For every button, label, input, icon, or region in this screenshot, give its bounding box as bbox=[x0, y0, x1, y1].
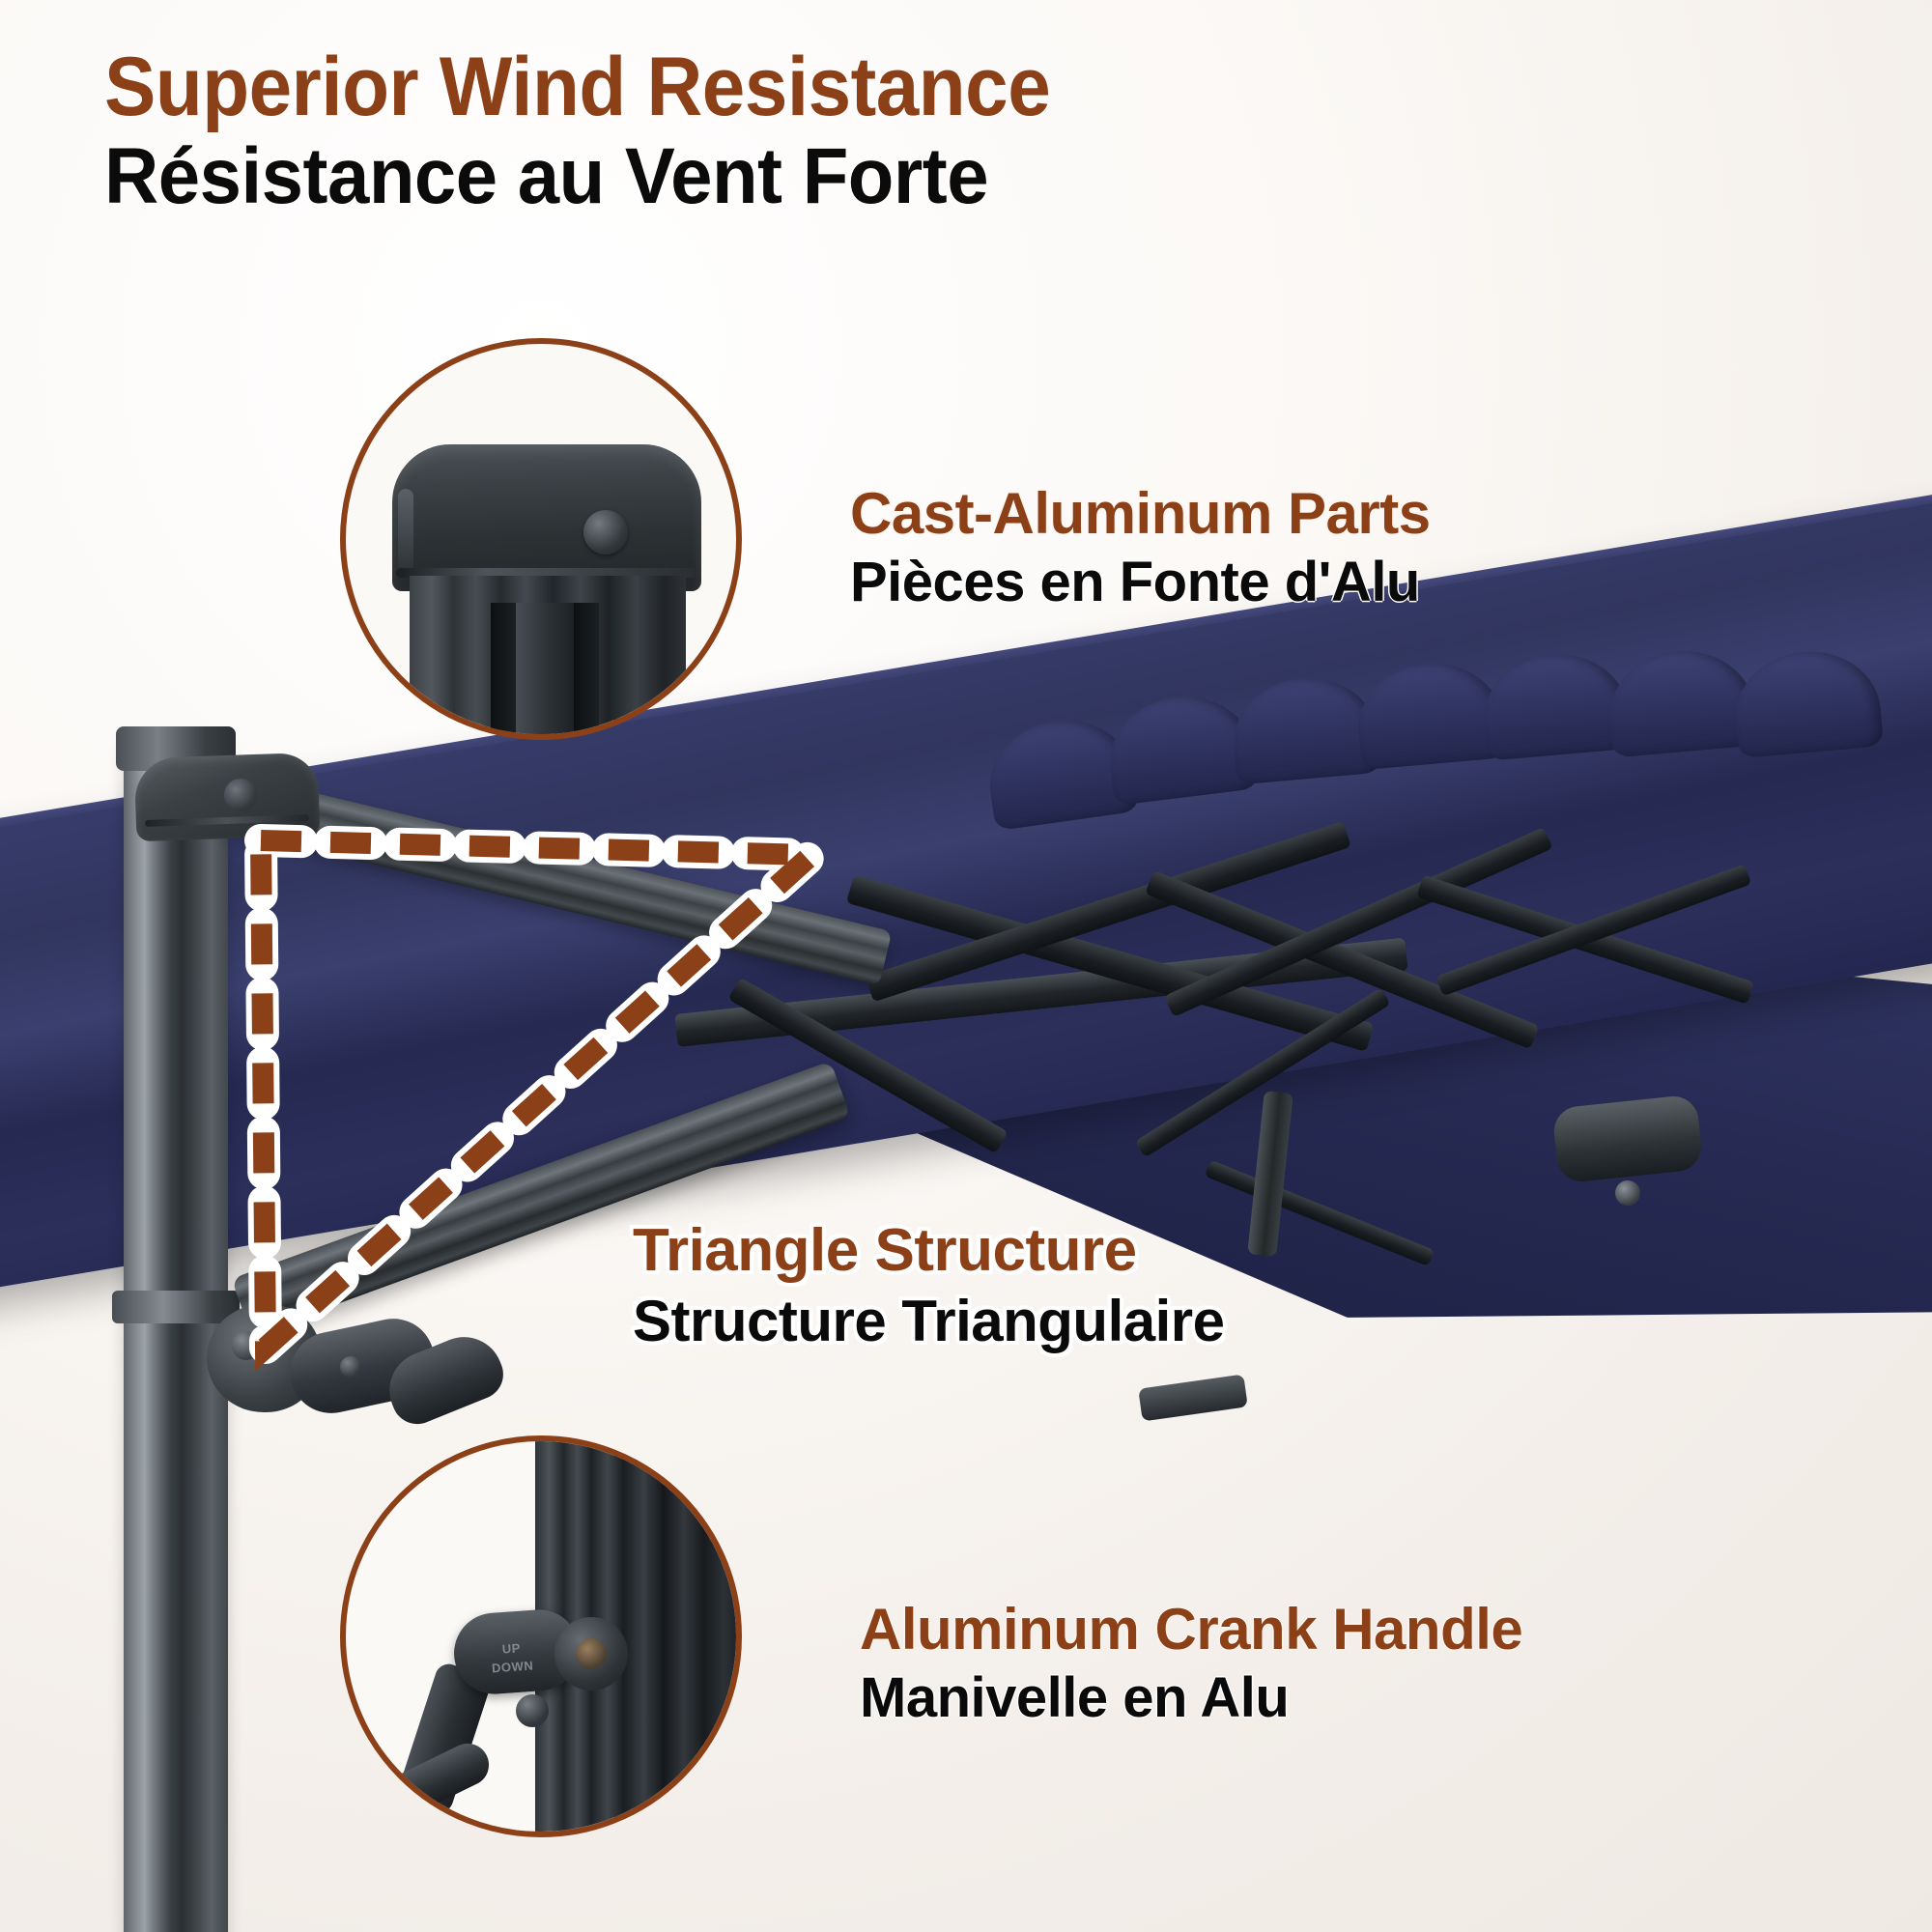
callout-circle-crank-handle: UP DOWN bbox=[340, 1435, 742, 1837]
canopy-center-hub bbox=[1551, 1094, 1703, 1183]
callout-circle-cast-aluminum bbox=[340, 338, 742, 740]
crank-handle-closeup: UP DOWN bbox=[346, 1441, 736, 1832]
title-french: Résistance au Vent Forte bbox=[104, 137, 1070, 216]
crank-direction-markings: UP DOWN bbox=[460, 1627, 564, 1688]
crank-hub-core-icon bbox=[576, 1638, 607, 1669]
cast-aluminum-closeup bbox=[346, 344, 736, 734]
page-title: Superior Wind Resistance Résistance au V… bbox=[104, 46, 1122, 216]
cast-post-tab bbox=[516, 603, 574, 740]
hub-bolt-icon bbox=[1615, 1180, 1640, 1206]
crank-down-label: DOWN bbox=[492, 1658, 534, 1675]
cast-bolt-icon bbox=[583, 510, 628, 554]
feature-label-fr: Structure Triangulaire bbox=[633, 1291, 1225, 1352]
feature-label-fr: Manivelle en Alu bbox=[860, 1668, 1522, 1727]
feature-label-triangle-structure: Triangle Structure Structure Triangulair… bbox=[633, 1219, 1225, 1351]
title-english: Superior Wind Resistance bbox=[104, 46, 1050, 128]
infographic-canvas: Superior Wind Resistance Résistance au V… bbox=[0, 0, 1932, 1932]
canopy-rib-foot bbox=[1138, 1375, 1248, 1422]
cast-cap-edge bbox=[398, 489, 413, 572]
feature-label-aluminum-crank-handle: Aluminum Crank Handle Manivelle en Alu bbox=[860, 1599, 1522, 1727]
feature-label-en: Cast-Aluminum Parts bbox=[850, 483, 1431, 545]
crank-knob-icon bbox=[516, 1694, 549, 1727]
feature-label-en: Triangle Structure bbox=[633, 1219, 1225, 1283]
elbow-bolt-icon bbox=[224, 779, 257, 811]
mast-collar bbox=[112, 1291, 240, 1323]
cast-post-slot bbox=[491, 603, 516, 740]
feature-label-cast-aluminum-parts: Cast-Aluminum Parts Pièces en Fonte d'Al… bbox=[850, 483, 1431, 611]
pivot-pin-icon bbox=[340, 1356, 361, 1378]
crank-up-label: UP bbox=[501, 1640, 521, 1656]
feature-label-fr: Pièces en Fonte d'Alu bbox=[850, 553, 1431, 611]
cast-post-slot bbox=[574, 603, 599, 740]
pivot-pin-icon bbox=[232, 1331, 261, 1360]
feature-label-en: Aluminum Crank Handle bbox=[860, 1599, 1522, 1661]
